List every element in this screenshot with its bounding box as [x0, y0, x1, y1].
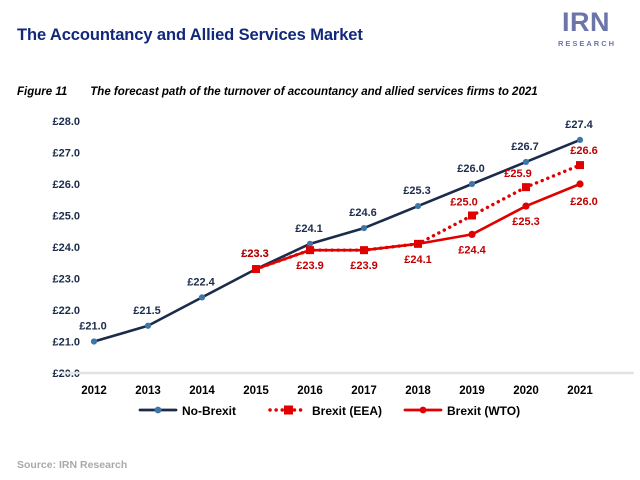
data-point-marker[interactable] [469, 181, 475, 187]
chart-legend[interactable]: No-BrexitBrexit (EEA)Brexit (WTO) [140, 404, 520, 418]
irn-research-logo: IRN RESEARCH [550, 10, 622, 48]
data-point-marker[interactable] [306, 247, 313, 254]
legend-item-brexit-wto[interactable]: Brexit (WTO) [405, 404, 520, 418]
x-tick-label-2016: 2016 [297, 385, 323, 397]
data-label: £26.0 [570, 196, 598, 208]
data-point-marker[interactable] [576, 180, 583, 187]
data-point-marker[interactable] [522, 202, 529, 209]
series-data-labels: £21.0£21.5£22.4£23.3£24.1£24.6£25.3£26.0… [79, 119, 598, 333]
data-label: £23.3 [241, 248, 269, 260]
data-point-marker[interactable] [468, 231, 475, 238]
data-label: £26.0 [457, 163, 485, 175]
legend-label: Brexit (WTO) [447, 404, 520, 418]
page-header: The Accountancy and Allied Services Mark… [0, 0, 640, 66]
y-tick-label: £26.0 [52, 179, 80, 191]
chart-canvas: £28.0£27.0£26.0£25.0£24.0£23.0£22.0£21.0… [0, 104, 640, 444]
data-point-marker[interactable] [360, 247, 367, 254]
y-tick-label: £21.0 [52, 337, 80, 349]
data-label: £24.1 [295, 223, 323, 235]
legend-marker-swatch [420, 407, 427, 414]
data-label: £26.6 [570, 145, 598, 157]
page-title: The Accountancy and Allied Services Mark… [17, 26, 363, 45]
data-label: £24.6 [349, 207, 377, 219]
data-point-marker[interactable] [468, 212, 476, 220]
x-tick-label-2013: 2013 [135, 385, 161, 397]
figure-number: Figure 11 [17, 86, 67, 98]
data-point-marker[interactable] [415, 203, 421, 209]
data-label: £25.0 [450, 197, 478, 209]
legend-label: No-Brexit [182, 404, 236, 418]
data-point-marker[interactable] [414, 240, 421, 247]
logo-subtitle: RESEARCH [550, 39, 622, 48]
y-axis-tick-labels: £28.0£27.0£26.0£25.0£24.0£23.0£22.0£21.0… [52, 116, 80, 380]
x-tick-label-2015: 2015 [243, 385, 269, 397]
y-tick-label: £25.0 [52, 211, 80, 223]
x-tick-label-2018: 2018 [405, 385, 431, 397]
legend-marker-swatch [284, 406, 293, 415]
x-tick-label-2019: 2019 [459, 385, 485, 397]
data-label: £24.1 [404, 254, 432, 266]
data-point-marker[interactable] [199, 294, 205, 300]
y-tick-label: £23.0 [52, 274, 80, 286]
data-label: £25.3 [403, 185, 431, 197]
data-label: £22.4 [187, 276, 215, 288]
legend-marker-swatch [155, 407, 162, 414]
x-tick-label-2017: 2017 [351, 385, 377, 397]
data-point-marker[interactable] [91, 338, 97, 344]
y-tick-label: £28.0 [52, 116, 80, 128]
data-point-marker[interactable] [576, 161, 584, 169]
data-label: £27.4 [565, 119, 593, 131]
x-axis-tick-labels: 2012201320142015201620172018201920202021 [81, 385, 593, 397]
legend-item-no-brexit[interactable]: No-Brexit [140, 404, 236, 418]
data-point-marker[interactable] [577, 137, 583, 143]
data-point-marker[interactable] [361, 225, 367, 231]
figure-caption: Figure 11The forecast path of the turnov… [17, 82, 627, 100]
data-point-marker[interactable] [145, 323, 151, 329]
x-tick-label-2021: 2021 [567, 385, 593, 397]
data-label: £23.9 [350, 260, 378, 272]
y-tick-label: £24.0 [52, 242, 80, 254]
data-label: £26.7 [511, 141, 539, 153]
data-point-marker[interactable] [523, 159, 529, 165]
x-tick-label-2014: 2014 [189, 385, 215, 397]
data-label: £21.0 [79, 321, 107, 333]
y-tick-label: £27.0 [52, 148, 80, 160]
x-tick-label-2012: 2012 [81, 385, 107, 397]
logo-wordmark: IRN [550, 10, 622, 36]
data-point-marker[interactable] [307, 241, 313, 247]
figure-title: The forecast path of the turnover of acc… [90, 86, 537, 98]
data-label: £25.3 [512, 216, 540, 228]
line-chart: £28.0£27.0£26.0£25.0£24.0£23.0£22.0£21.0… [0, 104, 640, 444]
data-label: £24.4 [458, 244, 486, 256]
data-point-marker[interactable] [252, 265, 259, 272]
data-label: £25.9 [504, 168, 532, 180]
data-point-marker[interactable] [522, 183, 530, 191]
y-tick-label: £22.0 [52, 305, 80, 317]
legend-item-brexit-eea[interactable]: Brexit (EEA) [270, 404, 382, 418]
source-note: Source: IRN Research [17, 459, 127, 471]
data-label: £23.9 [296, 260, 324, 272]
legend-label: Brexit (EEA) [312, 404, 382, 418]
x-tick-label-2020: 2020 [513, 385, 539, 397]
data-label: £21.5 [133, 305, 161, 317]
